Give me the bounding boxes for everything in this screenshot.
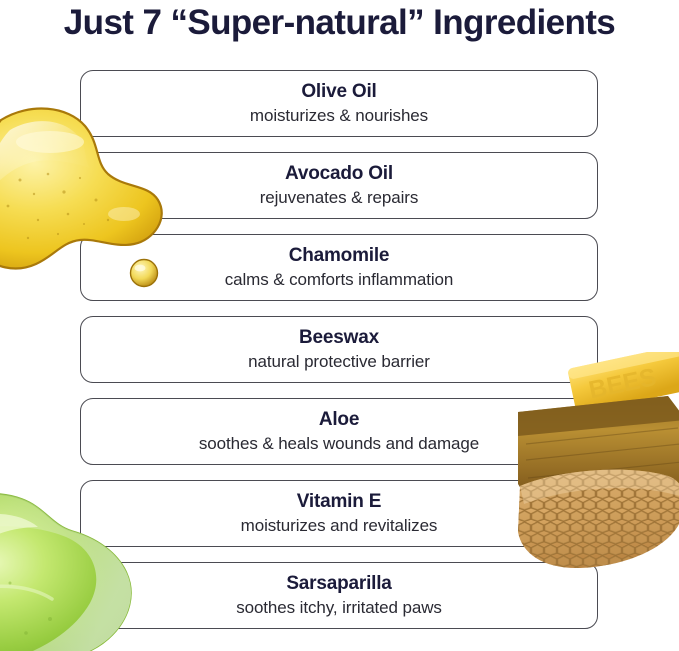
ingredient-benefit: soothes & heals wounds and damage (199, 432, 479, 455)
ingredient-card-vitamin-e[interactable]: Vitamin E moisturizes and revitalizes (80, 480, 598, 547)
ingredient-benefit: moisturizes & nourishes (250, 104, 428, 127)
ingredient-name: Sarsaparilla (286, 572, 391, 596)
ingredient-name: Aloe (319, 408, 359, 432)
ingredient-benefit: rejuvenates & repairs (260, 186, 419, 209)
ingredient-name: Beeswax (299, 326, 379, 350)
ingredient-name: Avocado Oil (285, 162, 393, 186)
ingredients-infographic: Just 7 “Super-natural” Ingredients (0, 0, 679, 651)
ingredient-name: Vitamin E (297, 490, 381, 514)
ingredient-card-list: Olive Oil moisturizes & nourishes Avocad… (80, 70, 598, 629)
ingredient-name: Chamomile (289, 244, 390, 268)
ingredient-card-avocado-oil[interactable]: Avocado Oil rejuvenates & repairs (80, 152, 598, 219)
ingredient-benefit: moisturizes and revitalizes (241, 514, 438, 537)
ingredient-card-olive-oil[interactable]: Olive Oil moisturizes & nourishes (80, 70, 598, 137)
ingredient-benefit: calms & comforts inflammation (225, 268, 454, 291)
ingredient-name: Olive Oil (301, 80, 376, 104)
ingredient-card-sarsaparilla[interactable]: Sarsaparilla soothes itchy, irritated pa… (80, 562, 598, 629)
ingredient-card-beeswax[interactable]: Beeswax natural protective barrier (80, 316, 598, 383)
ingredient-card-chamomile[interactable]: Chamomile calms & comforts inflammation (80, 234, 598, 301)
ingredient-benefit: soothes itchy, irritated paws (236, 596, 442, 619)
ingredient-benefit: natural protective barrier (248, 350, 430, 373)
page-title: Just 7 “Super-natural” Ingredients (0, 2, 679, 44)
ingredient-card-aloe[interactable]: Aloe soothes & heals wounds and damage (80, 398, 598, 465)
